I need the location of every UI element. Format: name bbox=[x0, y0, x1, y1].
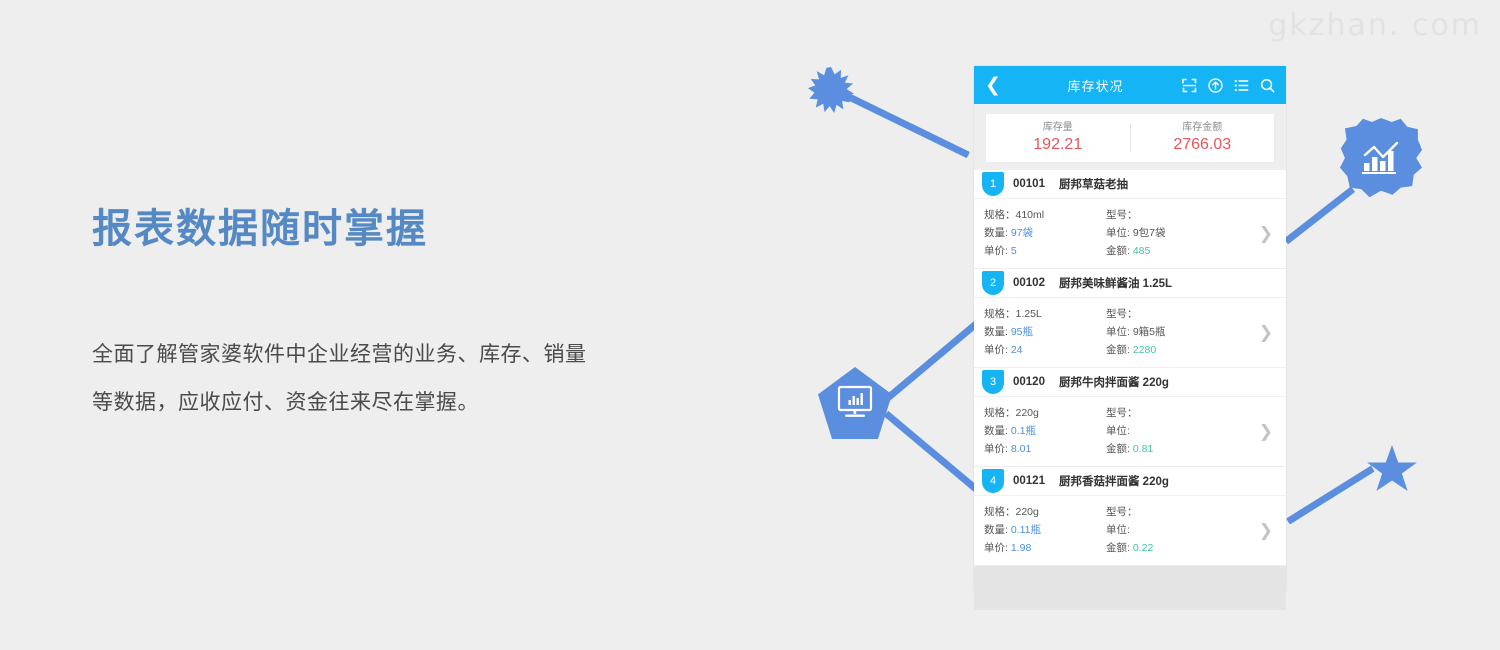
chevron-right-icon[interactable]: ❯ bbox=[1259, 422, 1273, 442]
field-price-value: 5 bbox=[1011, 245, 1017, 257]
field-unit-label: 单位: bbox=[1106, 227, 1130, 239]
starburst-icon bbox=[808, 67, 854, 113]
field-price-label: 单价: bbox=[984, 443, 1008, 455]
app-title: 库存状况 bbox=[1007, 76, 1178, 95]
stock-amount-label: 库存金额 bbox=[1131, 121, 1275, 135]
field-qty: 数量: 0.1瓶 bbox=[984, 422, 1106, 440]
field-spec: 规格：220g bbox=[984, 503, 1106, 521]
chevron-right-icon[interactable]: ❯ bbox=[1259, 323, 1273, 343]
poster-stage: gkzhan. com 报表数据随时掌握 全面了解管家婆软件中企业经营的业务、库… bbox=[0, 0, 1500, 650]
list-item-name: 厨邦牛肉拌面酱 220g bbox=[1059, 374, 1169, 390]
field-unit: 单位: bbox=[1106, 422, 1246, 440]
arrow-up-circle-icon[interactable] bbox=[1208, 78, 1223, 93]
list-item-right-column: 型号：单位: 9包7袋金额: 485 bbox=[1106, 206, 1246, 260]
field-amount-value: 2280 bbox=[1133, 344, 1156, 356]
field-spec-label: 规格： bbox=[984, 407, 1016, 419]
field-qty-value: 0.11瓶 bbox=[1011, 524, 1041, 536]
list-item-header: 300120厨邦牛肉拌面酱 220g bbox=[974, 368, 1286, 397]
field-spec-value: 1.25L bbox=[1016, 308, 1042, 320]
list-item-right-column: 型号：单位: 9箱5瓶金额: 2280 bbox=[1106, 305, 1246, 359]
field-spec-label: 规格： bbox=[984, 209, 1016, 221]
field-spec-value: 220g bbox=[1016, 506, 1039, 518]
field-model-label: 型号： bbox=[1106, 407, 1138, 419]
list-item-details: 规格：220g数量: 0.11瓶单价: 1.98型号：单位: 金额: 0.22❯ bbox=[974, 496, 1286, 565]
stock-qty-cell: 库存量 192.21 bbox=[986, 121, 1130, 155]
field-spec-value: 220g bbox=[1016, 407, 1039, 419]
list-item-header: 200102厨邦美味鲜酱油 1.25L bbox=[974, 269, 1286, 298]
field-model: 型号： bbox=[1106, 206, 1246, 224]
chevron-right-icon[interactable]: ❯ bbox=[1259, 521, 1273, 541]
field-price-value: 24 bbox=[1011, 344, 1023, 356]
field-unit-label: 单位: bbox=[1106, 326, 1130, 338]
connector-line-top bbox=[836, 88, 969, 158]
monitor-chart-icon bbox=[835, 385, 875, 421]
summary-card-wrapper: 库存量 192.21 库存金额 2766.03 bbox=[974, 104, 1286, 170]
page-title: 报表数据随时掌握 bbox=[92, 196, 428, 254]
list-item-code: 00121 bbox=[1013, 475, 1045, 487]
list-item-left-column: 规格：1.25L数量: 95瓶单价: 24 bbox=[984, 305, 1106, 359]
field-model: 型号： bbox=[1106, 404, 1246, 422]
field-qty-value: 97袋 bbox=[1011, 227, 1033, 239]
field-qty-label: 数量: bbox=[984, 425, 1008, 437]
topbar-icon-group bbox=[1178, 78, 1275, 93]
field-amount-label: 金额: bbox=[1106, 344, 1130, 356]
field-qty-label: 数量: bbox=[984, 227, 1008, 239]
cloud-badge-chart-icon bbox=[1340, 118, 1422, 198]
field-price: 单价: 5 bbox=[984, 242, 1106, 260]
field-amount-label: 金额: bbox=[1106, 542, 1130, 554]
list-item-details: 规格：410ml数量: 97袋单价: 5型号：单位: 9包7袋金额: 485❯ bbox=[974, 199, 1286, 268]
list-empty-footer bbox=[974, 566, 1286, 610]
field-amount: 金额: 2280 bbox=[1106, 341, 1246, 359]
list-item-details: 规格：1.25L数量: 95瓶单价: 24型号：单位: 9箱5瓶金额: 2280… bbox=[974, 298, 1286, 367]
field-unit-value: 9包7袋 bbox=[1133, 227, 1166, 239]
field-unit: 单位: 9包7袋 bbox=[1106, 224, 1246, 242]
field-spec-value: 410ml bbox=[1016, 209, 1045, 221]
field-amount-value: 0.81 bbox=[1133, 443, 1153, 455]
field-spec-label: 规格： bbox=[984, 506, 1016, 518]
field-price-value: 1.98 bbox=[1011, 542, 1031, 554]
field-unit-label: 单位: bbox=[1106, 524, 1130, 536]
field-amount-label: 金额: bbox=[1106, 443, 1130, 455]
field-qty-label: 数量: bbox=[984, 326, 1008, 338]
list-item-code: 00101 bbox=[1013, 178, 1045, 190]
scan-frame-icon[interactable] bbox=[1182, 78, 1197, 93]
list-item-left-column: 规格：220g数量: 0.11瓶单价: 1.98 bbox=[984, 503, 1106, 557]
field-model-label: 型号： bbox=[1106, 308, 1138, 320]
watermark: gkzhan. com bbox=[1268, 8, 1482, 43]
chevron-right-icon[interactable]: ❯ bbox=[1259, 224, 1273, 244]
field-price: 单价: 24 bbox=[984, 341, 1106, 359]
field-price-value: 8.01 bbox=[1011, 443, 1031, 455]
list-item-left-column: 规格：220g数量: 0.1瓶单价: 8.01 bbox=[984, 404, 1106, 458]
connector-line-cloud bbox=[1284, 186, 1355, 244]
list-item-name: 厨邦美味鲜酱油 1.25L bbox=[1059, 275, 1172, 291]
marketing-body-text: 全面了解管家婆软件中企业经营的业务、库存、销量等数据，应收应付、资金往来尽在掌握… bbox=[92, 331, 592, 427]
list-item-header: 400121厨邦香菇拌面酱 220g bbox=[974, 467, 1286, 496]
field-amount: 金额: 0.22 bbox=[1106, 539, 1246, 557]
field-qty: 数量: 97袋 bbox=[984, 224, 1106, 242]
field-unit: 单位: bbox=[1106, 521, 1246, 539]
field-price-label: 单价: bbox=[984, 344, 1008, 356]
list-item-left-column: 规格：410ml数量: 97袋单价: 5 bbox=[984, 206, 1106, 260]
list-item-name: 厨邦香菇拌面酱 220g bbox=[1059, 473, 1169, 489]
stock-amount-cell: 库存金额 2766.03 bbox=[1131, 121, 1275, 155]
back-chevron-left-icon[interactable]: ❮ bbox=[985, 76, 1007, 95]
list-item-index-badge: 4 bbox=[982, 469, 1004, 493]
pentagon-monitor-chart-icon bbox=[818, 367, 892, 439]
list-item[interactable]: 400121厨邦香菇拌面酱 220g规格：220g数量: 0.11瓶单价: 1.… bbox=[974, 467, 1286, 566]
list-item[interactable]: 100101厨邦草菇老抽规格：410ml数量: 97袋单价: 5型号：单位: 9… bbox=[974, 170, 1286, 269]
field-spec: 规格：1.25L bbox=[984, 305, 1106, 323]
stock-qty-value: 192.21 bbox=[986, 135, 1130, 155]
field-qty-label: 数量: bbox=[984, 524, 1008, 536]
list-item-header: 100101厨邦草菇老抽 bbox=[974, 170, 1286, 199]
field-model: 型号： bbox=[1106, 503, 1246, 521]
field-model: 型号： bbox=[1106, 305, 1246, 323]
stock-qty-label: 库存量 bbox=[986, 121, 1130, 135]
search-icon[interactable] bbox=[1260, 78, 1275, 93]
inventory-list: 100101厨邦草菇老抽规格：410ml数量: 97袋单价: 5型号：单位: 9… bbox=[974, 170, 1286, 566]
list-item-details: 规格：220g数量: 0.1瓶单价: 8.01型号：单位: 金额: 0.81❯ bbox=[974, 397, 1286, 466]
field-amount-value: 485 bbox=[1133, 245, 1151, 257]
field-amount: 金额: 485 bbox=[1106, 242, 1246, 260]
bar-chart-trend-icon bbox=[1359, 139, 1403, 177]
list-item-code: 00102 bbox=[1013, 277, 1045, 289]
field-spec: 规格：410ml bbox=[984, 206, 1106, 224]
field-unit: 单位: 9箱5瓶 bbox=[1106, 323, 1246, 341]
list-item-right-column: 型号：单位: 金额: 0.22 bbox=[1106, 503, 1246, 557]
list-item-index-badge: 3 bbox=[982, 370, 1004, 394]
field-price-label: 单价: bbox=[984, 245, 1008, 257]
field-model-label: 型号： bbox=[1106, 209, 1138, 221]
list-lines-icon[interactable] bbox=[1234, 78, 1249, 93]
field-qty: 数量: 0.11瓶 bbox=[984, 521, 1106, 539]
list-item-index-badge: 2 bbox=[982, 271, 1004, 295]
field-price-label: 单价: bbox=[984, 542, 1008, 554]
summary-card: 库存量 192.21 库存金额 2766.03 bbox=[985, 113, 1275, 163]
field-amount: 金额: 0.81 bbox=[1106, 440, 1246, 458]
field-spec: 规格：220g bbox=[984, 404, 1106, 422]
list-item-name: 厨邦草菇老抽 bbox=[1059, 176, 1128, 192]
connector-line-star bbox=[1286, 466, 1375, 525]
app-topbar: ❮ 库存状况 bbox=[974, 66, 1286, 104]
list-item-index-badge: 1 bbox=[982, 172, 1004, 196]
field-qty-value: 95瓶 bbox=[1011, 326, 1033, 338]
field-price: 单价: 8.01 bbox=[984, 440, 1106, 458]
phone-app-screenshot: ❮ 库存状况 bbox=[974, 66, 1286, 591]
stock-amount-value: 2766.03 bbox=[1131, 135, 1275, 155]
field-model-label: 型号： bbox=[1106, 506, 1138, 518]
list-item[interactable]: 300120厨邦牛肉拌面酱 220g规格：220g数量: 0.1瓶单价: 8.0… bbox=[974, 368, 1286, 467]
list-item[interactable]: 200102厨邦美味鲜酱油 1.25L规格：1.25L数量: 95瓶单价: 24… bbox=[974, 269, 1286, 368]
list-item-right-column: 型号：单位: 金额: 0.81 bbox=[1106, 404, 1246, 458]
field-unit-value: 9箱5瓶 bbox=[1133, 326, 1166, 338]
field-unit-label: 单位: bbox=[1106, 425, 1130, 437]
field-amount-value: 0.22 bbox=[1133, 542, 1153, 554]
field-amount-label: 金额: bbox=[1106, 245, 1130, 257]
field-qty: 数量: 95瓶 bbox=[984, 323, 1106, 341]
field-price: 单价: 1.98 bbox=[984, 539, 1106, 557]
list-item-code: 00120 bbox=[1013, 376, 1045, 388]
field-qty-value: 0.1瓶 bbox=[1011, 425, 1036, 437]
field-spec-label: 规格： bbox=[984, 308, 1016, 320]
